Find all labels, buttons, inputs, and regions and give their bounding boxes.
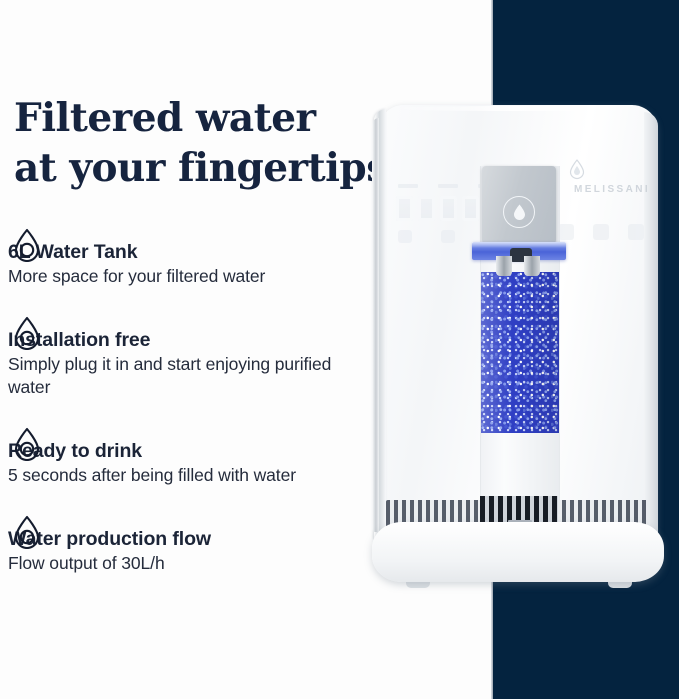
water-drop-icon: [12, 515, 42, 549]
digit: [462, 196, 479, 221]
cold-water-icon[interactable]: [398, 230, 412, 243]
tank-status-icon: [593, 224, 609, 240]
product-image-water-purifier: MELISSANI: [372, 96, 670, 596]
purifier-left-edge-inner: [372, 118, 379, 532]
feature-title: Ready to drink: [8, 439, 408, 464]
product-feature-image: Filtered water at your fingertips 6L Wat…: [0, 0, 679, 699]
water-drop-icon: [12, 427, 42, 461]
dispenser-nozzle: [524, 256, 540, 276]
dispenser-head[interactable]: [482, 166, 556, 244]
feature-list: 6L Water Tank More space for your filter…: [8, 222, 408, 597]
feature-description: Simply plug it in and start enjoying pur…: [8, 353, 348, 399]
list-item: Water production flow Flow output of 30L…: [8, 509, 408, 575]
list-item: Installation free Simply plug it in and …: [8, 310, 408, 399]
filter-media-blue: [481, 272, 559, 433]
media-sheen: [481, 272, 559, 433]
feature-title: 6L Water Tank: [8, 240, 408, 265]
digit: [396, 196, 413, 221]
water-drop-icon: [12, 228, 42, 262]
water-drop-button-icon[interactable]: [503, 196, 535, 228]
feature-description: Flow output of 30L/h: [8, 552, 348, 575]
water-drop-icon: [12, 316, 42, 350]
brand-name: MELISSANI: [568, 184, 656, 195]
indicator-segment: [438, 184, 458, 188]
feature-description: 5 seconds after being filled with water: [8, 464, 348, 487]
feature-title: Water production flow: [8, 527, 408, 552]
feature-description: More space for your filtered water: [8, 265, 348, 288]
hot-water-icon[interactable]: [441, 230, 455, 243]
purifier-base: [372, 522, 664, 582]
status-indicator-row: [558, 224, 644, 242]
headline-line-2: at your fingertips: [14, 143, 414, 193]
purifier-top-gloss: [390, 106, 640, 111]
list-item: 6L Water Tank More space for your filter…: [8, 222, 408, 288]
brand-logo: MELISSANI: [568, 158, 656, 195]
filter-status-icon: [558, 224, 574, 240]
temperature-icon: [628, 224, 644, 240]
page-title: Filtered water at your fingertips: [14, 93, 414, 193]
dispenser-nozzle: [496, 256, 512, 276]
feature-title: Installation free: [8, 328, 408, 353]
indicator-segment: [398, 184, 418, 188]
digit: [418, 196, 435, 221]
digit: [440, 196, 457, 221]
water-drop-logo-icon: [568, 158, 586, 180]
headline-line-1: Filtered water: [14, 93, 414, 143]
seven-segment-digits: [396, 196, 479, 221]
list-item: Ready to drink 5 seconds after being fil…: [8, 421, 408, 487]
